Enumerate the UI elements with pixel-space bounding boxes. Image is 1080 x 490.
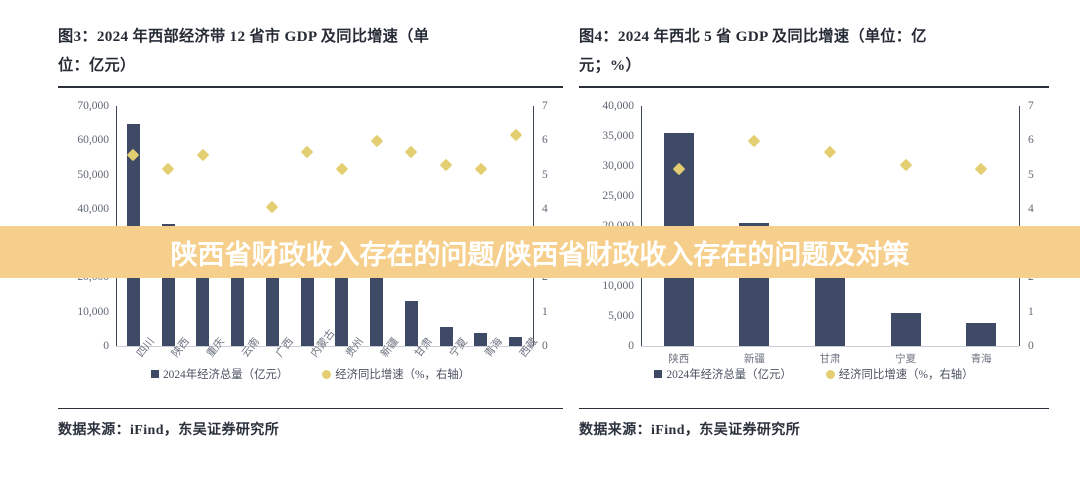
growth-marker-新疆 <box>748 135 761 148</box>
x-axis-tick-label: 青海 <box>971 351 992 366</box>
x-axis-tick-label: 宁夏 <box>895 351 916 366</box>
legend-item-label: 2024年经济总量（亿元） <box>163 366 288 382</box>
watermark-banner: 陕西省财政收入存在的问题/陕西省财政收入存在的问题及对策 <box>0 226 1080 278</box>
y-axis-tick-label: 10,000 <box>602 280 634 292</box>
caption-line-1: 图3：2024 年西部经济带 12 省市 GDP 及同比增速（单 <box>58 22 563 51</box>
growth-marker-贵州 <box>336 162 349 175</box>
bar-青海 <box>966 323 996 346</box>
y2-axis-tick-label: 5 <box>542 169 548 181</box>
legend-item[interactable]: 2024年经济总量（亿元） <box>654 366 791 382</box>
y2-axis-tick-label: 0 <box>1028 340 1034 352</box>
growth-marker-广西 <box>266 200 279 213</box>
y-axis-tick-label: 60,000 <box>77 134 109 146</box>
circle-swatch-icon <box>322 370 331 379</box>
legend-item[interactable]: 2024年经济总量（亿元） <box>151 366 288 382</box>
y-axis-tick-label: 50,000 <box>77 169 109 181</box>
growth-marker-甘肃 <box>405 145 418 158</box>
x-axis-baseline <box>641 346 1019 347</box>
y2-axis-tick-label: 1 <box>542 306 548 318</box>
legend-item[interactable]: 经济同比增速（%，右轴） <box>322 366 470 382</box>
y2-axis-tick-label: 1 <box>1028 306 1034 318</box>
square-swatch-icon <box>151 370 159 378</box>
caption-line-1: 图4：2024 年西北 5 省 GDP 及同比增速（单位：亿 <box>579 22 1049 51</box>
legend-item-label: 2024年经济总量（亿元） <box>666 366 791 382</box>
y-axis-tick-label: 35,000 <box>602 130 634 142</box>
figure-caption-fig3: 图3：2024 年西部经济带 12 省市 GDP 及同比增速（单 位：亿元） <box>58 0 563 80</box>
growth-marker-陕西 <box>162 162 175 175</box>
y2-axis-tick-label: 4 <box>542 203 548 215</box>
legend-item[interactable]: 经济同比增速（%，右轴） <box>826 366 974 382</box>
bar-甘肃 <box>815 268 845 346</box>
y2-axis-tick-label: 7 <box>1028 100 1034 112</box>
caption-line-2: 元；%） <box>579 51 1049 80</box>
legend-item-label: 经济同比增速（%，右轴） <box>335 366 470 382</box>
chart-legend: 2024年经济总量（亿元）经济同比增速（%，右轴） <box>579 366 1049 382</box>
legend-item-label: 经济同比增速（%，右轴） <box>839 366 974 382</box>
figure-page: 图3：2024 年西部经济带 12 省市 GDP 及同比增速（单 位：亿元） 0… <box>0 0 1080 490</box>
caption-line-2: 位：亿元） <box>58 51 563 80</box>
x-axis-tick-label: 新疆 <box>744 351 765 366</box>
y-axis-tick-label: 40,000 <box>77 203 109 215</box>
y2-axis-tick-label: 6 <box>542 134 548 146</box>
y-axis-tick-label: 40,000 <box>602 100 634 112</box>
y2-axis-tick-label: 6 <box>1028 134 1034 146</box>
growth-marker-西藏 <box>509 128 522 141</box>
y-axis-tick-label: 70,000 <box>77 100 109 112</box>
y2-axis-tick-label: 4 <box>1028 203 1034 215</box>
bar-宁夏 <box>891 313 921 346</box>
y2-axis-tick-label: 0 <box>542 340 548 352</box>
growth-marker-宁夏 <box>440 159 453 172</box>
growth-marker-内蒙古 <box>301 145 314 158</box>
y-axis-tick-label: 25,000 <box>602 190 634 202</box>
growth-marker-青海 <box>475 162 488 175</box>
figure-caption-fig4: 图4：2024 年西北 5 省 GDP 及同比增速（单位：亿 元；%） <box>579 0 1049 80</box>
source-note-fig3: 数据来源：iFind，东吴证券研究所 <box>58 409 563 439</box>
growth-marker-宁夏 <box>899 159 912 172</box>
y-axis-tick-label: 0 <box>103 340 109 352</box>
x-axis-tick-label: 甘肃 <box>820 351 841 366</box>
y-axis-tick-label: 0 <box>628 340 634 352</box>
bar-新疆 <box>370 276 383 346</box>
chart-legend: 2024年经济总量（亿元）经济同比增速（%，右轴） <box>58 366 563 382</box>
square-swatch-icon <box>654 370 662 378</box>
y-axis-tick-label: 10,000 <box>77 306 109 318</box>
y2-axis-tick-label: 5 <box>1028 169 1034 181</box>
y-axis-tick-label: 5,000 <box>608 310 634 322</box>
bar-甘肃 <box>405 301 418 346</box>
source-note-fig4: 数据来源：iFind，东吴证券研究所 <box>579 409 1049 439</box>
growth-marker-甘肃 <box>824 145 837 158</box>
growth-marker-重庆 <box>197 149 210 162</box>
y2-axis-tick-label: 7 <box>542 100 548 112</box>
watermark-banner-text: 陕西省财政收入存在的问题/陕西省财政收入存在的问题及对策 <box>171 233 910 272</box>
circle-swatch-icon <box>826 370 835 379</box>
growth-marker-青海 <box>975 162 988 175</box>
growth-marker-新疆 <box>370 135 383 148</box>
y-axis-tick-label: 30,000 <box>602 160 634 172</box>
x-axis-tick-label: 陕西 <box>668 351 689 366</box>
